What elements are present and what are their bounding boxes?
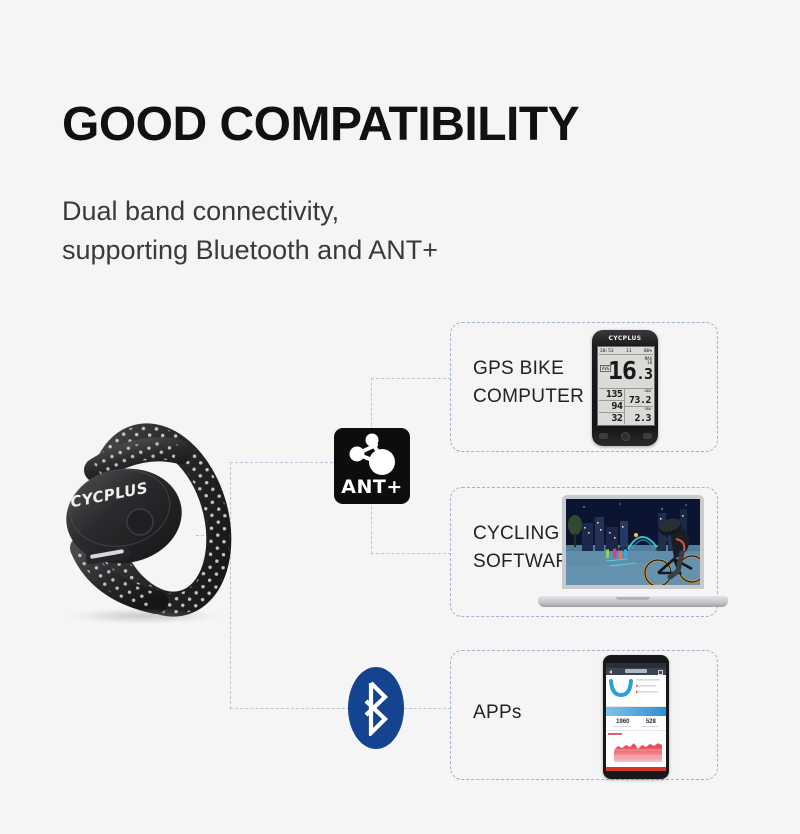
gps-metric-cell: 135 <box>599 389 624 401</box>
gps-metrics-left-column: 135 94 32 <box>599 389 625 424</box>
card-gps-bike-computer[interactable]: GPS BIKE COMPUTER <box>450 322 718 452</box>
gps-metrics-right-column: ODO 73.2 GRA 2.3 <box>625 389 653 424</box>
armband-illustration <box>48 412 248 627</box>
phone-screen: 1960 528 <box>606 663 666 771</box>
share-icon[interactable] <box>658 670 663 675</box>
phone-metric-2-caption <box>641 726 659 727</box>
ant-plus-molecule-icon <box>343 432 401 478</box>
gps-metric-value: 2.3 <box>634 413 651 424</box>
gps-metric-cell: ODO 73.2 <box>625 389 653 407</box>
gps-back-button[interactable] <box>599 433 608 439</box>
gps-metric-label: ODO <box>645 389 651 393</box>
bluetooth-icon <box>360 680 392 736</box>
phone-bottom-bar <box>606 767 666 771</box>
back-chevron-icon[interactable] <box>609 670 612 674</box>
subtitle-line-2: supporting Bluetooth and ANT+ <box>62 231 438 270</box>
gps-status-bar: 20:53 11 86% <box>599 348 653 355</box>
page-title: GOOD COMPATIBILITY <box>62 101 579 149</box>
heart-rate-armband: CYCPLUS <box>48 412 248 642</box>
gps-metric-value: 135 <box>606 389 623 400</box>
gps-button-row <box>592 431 658 441</box>
connector-trunk-to-bluetooth <box>230 708 355 709</box>
laptop-cycling-software <box>538 495 728 607</box>
gps-status-sat: 11 <box>626 349 631 354</box>
ant-plus-logo[interactable]: ANT+ <box>334 428 410 504</box>
gps-brand-label: CYCPLUS <box>592 335 658 342</box>
gps-power-button[interactable] <box>621 432 630 441</box>
card-gps-label: GPS BIKE COMPUTER <box>473 355 584 410</box>
phone-heartrate-area-chart <box>608 736 666 764</box>
phone-app-title <box>625 669 647 673</box>
gps-speed-value: 16.3 <box>598 356 652 386</box>
phone-gauge-chart <box>608 677 662 699</box>
phone-metric-1-caption <box>613 726 631 727</box>
gps-metric-cell: 94 <box>599 401 624 413</box>
phone-summary-section <box>606 675 666 707</box>
ant-plus-label: ANT+ <box>334 476 410 498</box>
cycling-simulation-scene <box>566 499 700 585</box>
card-apps-label: APPs <box>473 699 522 727</box>
gps-menu-button[interactable] <box>643 433 652 439</box>
phone-app-header <box>606 668 666 675</box>
card-apps-label-line1: APPs <box>473 699 522 727</box>
laptop-screen <box>566 499 700 585</box>
compatibility-infographic: GOOD COMPATIBILITY Dual band connectivit… <box>0 0 800 834</box>
armband-shadow <box>68 608 220 624</box>
gps-speed-whole: 16 <box>608 356 636 385</box>
gps-metric-value: 94 <box>611 401 622 412</box>
laptop-lid <box>562 495 704 589</box>
gps-metrics-grid: 135 94 32 ODO 73.2 GRA <box>599 388 653 424</box>
phone-metric-1: 1960 <box>616 719 629 725</box>
gps-speed-decimal: .3 <box>636 365 652 383</box>
connector-ant-to-software-card <box>371 553 451 554</box>
card-gps-label-line2: COMPUTER <box>473 383 584 411</box>
laptop-base <box>538 596 728 607</box>
gps-bike-computer-device: CYCPLUS 20:53 11 86% MAX 18 AVG 16.3 135 <box>592 330 658 446</box>
gps-status-battery: 86% <box>644 349 652 354</box>
gps-metric-value: 32 <box>611 413 622 424</box>
gps-metric-value: 73.2 <box>629 395 651 406</box>
phone-metrics-section: 1960 528 <box>606 716 666 731</box>
phone-metric-2: 528 <box>646 719 656 725</box>
card-gps-label-line1: GPS BIKE <box>473 355 584 383</box>
phone-gradient-band <box>606 707 666 716</box>
gps-metric-cell: 32 <box>599 413 624 424</box>
subtitle-line-1: Dual band connectivity, <box>62 192 438 231</box>
phone-chart-title <box>608 733 622 735</box>
connector-bluetooth-to-apps-card <box>404 708 451 709</box>
card-apps[interactable]: APPs <box>450 650 718 780</box>
gps-status-time: 20:53 <box>600 349 614 354</box>
smartphone-fitness-app: 1960 528 <box>603 655 669 779</box>
phone-heartrate-chart-section <box>606 731 666 771</box>
gps-metric-cell: GRA 2.3 <box>625 407 653 424</box>
connector-ant-to-gps-card <box>371 378 451 379</box>
bluetooth-logo[interactable] <box>348 667 404 749</box>
gps-metric-label: GRA <box>645 407 651 411</box>
gps-screen: 20:53 11 86% MAX 18 AVG 16.3 135 94 <box>597 346 655 426</box>
page-subtitle: Dual band connectivity, supporting Bluet… <box>62 192 438 270</box>
